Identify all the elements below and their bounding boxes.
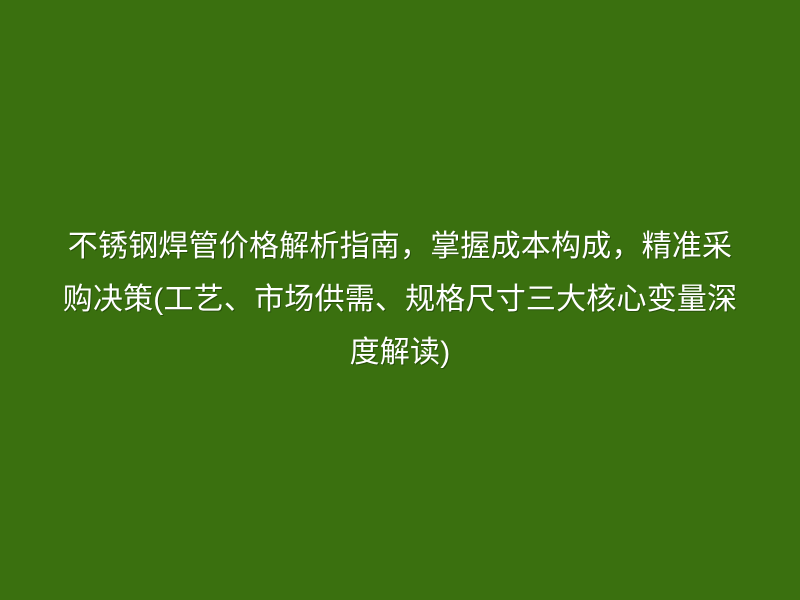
title-block: 不锈钢焊管价格解析指南，掌握成本构成，精准采购决策(工艺、市场供需、规格尺寸三大… — [50, 220, 750, 379]
page-title: 不锈钢焊管价格解析指南，掌握成本构成，精准采购决策(工艺、市场供需、规格尺寸三大… — [54, 220, 746, 379]
title-card: 不锈钢焊管价格解析指南，掌握成本构成，精准采购决策(工艺、市场供需、规格尺寸三大… — [0, 0, 800, 600]
